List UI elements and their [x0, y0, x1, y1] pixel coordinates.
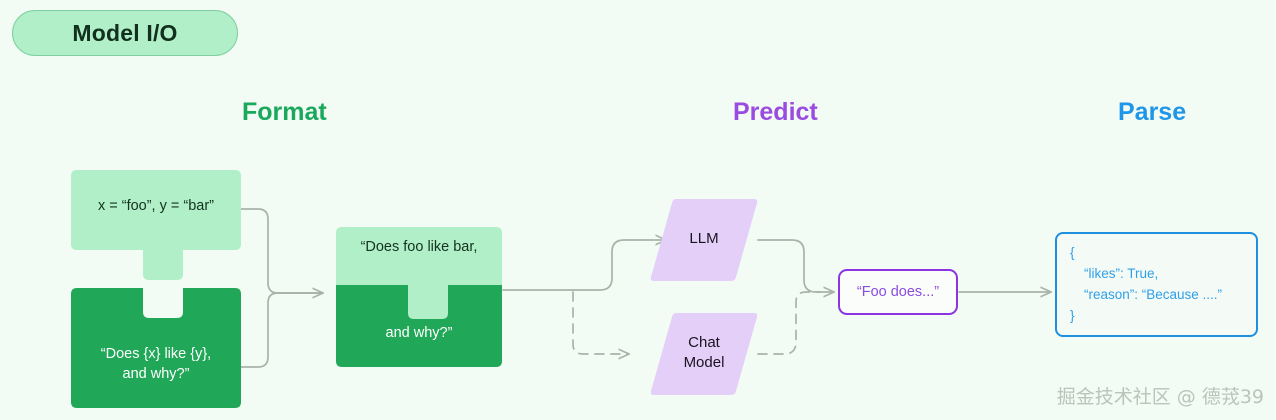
stage-heading-format: Format: [242, 98, 327, 127]
stage-heading-predict: Predict: [733, 98, 818, 127]
node-formatted-prompt: “Does foo like bar, and why?”: [336, 227, 502, 367]
connector-llm-to-output: [758, 240, 833, 292]
connector-formatted-to-chat-model: [573, 292, 628, 354]
node-template: “Does {x} like {y}, and why?”: [71, 288, 241, 408]
node-parsed-output: { “likes”: True, “reason”: “Because ....…: [1055, 232, 1258, 337]
parsed-line-close: }: [1070, 306, 1256, 327]
connector-variables-to-formatted: [241, 209, 322, 293]
connector-template-to-formatted: [241, 293, 320, 367]
parsed-line-open: {: [1070, 243, 1256, 264]
node-formatted-prompt-label-bottom: and why?”: [336, 325, 502, 341]
llm-shape: [650, 199, 758, 281]
model-io-badge: Model I/O: [12, 10, 238, 56]
node-variables: x = “foo”, y = “bar”: [71, 170, 241, 280]
node-model-output: “Foo does...”: [838, 269, 958, 315]
node-chat-model: Chat Model: [650, 313, 758, 395]
diagram-canvas: Model I/O Format Predict Parse: [0, 0, 1276, 420]
node-formatted-prompt-label-top: “Does foo like bar,: [336, 239, 502, 255]
template-shape: [71, 288, 241, 408]
parsed-line-likes: “likes”: True,: [1070, 264, 1256, 285]
connector-chat-model-to-output: [758, 292, 820, 354]
node-llm: LLM: [650, 199, 758, 281]
model-io-badge-label: Model I/O: [72, 20, 177, 47]
watermark: 掘金技术社区 @ 德茙39: [1057, 382, 1264, 409]
connector-formatted-to-llm: [503, 240, 665, 290]
node-model-output-label: “Foo does...”: [857, 284, 939, 300]
parsed-line-reason: “reason”: “Because ....”: [1070, 285, 1256, 306]
stage-heading-parse: Parse: [1118, 98, 1186, 127]
variables-shape: [71, 170, 241, 280]
chat-model-shape: [650, 313, 758, 395]
